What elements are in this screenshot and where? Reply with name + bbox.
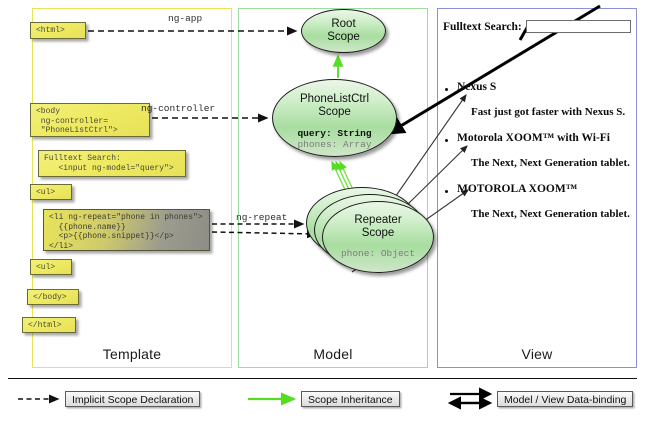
legend-label-implicit-scope-declaration: Implicit Scope Declaration	[65, 391, 200, 407]
code-box-li-ngrepeat[interactable]: <li ng-repeat="phone in phones"> {{phone…	[43, 209, 210, 251]
root-scope-title-1: Root	[302, 18, 385, 31]
label-ng-repeat: ng-repeat	[236, 212, 287, 223]
legend-arrow-double	[450, 394, 490, 403]
code-box-ul-close[interactable]: <ul>	[30, 259, 72, 275]
list-bullet-icon	[445, 88, 448, 91]
list-bullet-icon	[445, 190, 448, 193]
code-box-html-close[interactable]: </html>	[22, 317, 76, 333]
diagram-canvas: Template Model View	[0, 0, 645, 425]
panel-template-label: Template	[33, 346, 231, 362]
phonelistctrl-scope-node[interactable]: PhoneListCtrl Scope query: String phones…	[272, 79, 397, 157]
code-box-html-open[interactable]: <html>	[30, 22, 86, 39]
list-item-snippet: The Next, Next Generation tablet.	[471, 157, 630, 169]
code-box-body-close[interactable]: </body>	[27, 289, 79, 305]
repeater-scope-node[interactable]: Repeater Scope phone: Object	[322, 201, 434, 273]
list-item-name: Motorola XOOM™ with Wi-Fi	[457, 132, 610, 144]
list-item-name: MOTOROLA XOOM™	[457, 183, 577, 195]
repeater-scope-title-2: Scope	[323, 227, 433, 240]
repeater-prop-phone: phone: Object	[323, 248, 433, 259]
panel-model: Model	[238, 8, 428, 368]
panel-model-label: Model	[239, 346, 427, 362]
code-box-search-input[interactable]: Fulltext Search: <input ng-model="query"…	[38, 150, 186, 177]
root-scope-title-2: Scope	[302, 31, 385, 44]
code-box-body-open[interactable]: <body ng-controller= "PhoneListCtrl">	[30, 103, 150, 137]
phonelistctrl-prop-query: query: String	[273, 128, 396, 139]
fulltext-search-input[interactable]	[526, 20, 631, 33]
legend-label-scope-inheritance: Scope Inheritance	[301, 391, 400, 407]
label-ng-controller: ng-controller	[141, 103, 215, 114]
phonelistctrl-prop-phones: phones: Array	[273, 139, 396, 150]
legend-label-model-view-databinding: Model / View Data-binding	[497, 391, 633, 407]
list-bullet-icon	[445, 139, 448, 142]
view-content: Fulltext Search: Nexus S Fast just got f…	[443, 14, 633, 264]
phonelistctrl-scope-title-1: PhoneListCtrl	[273, 93, 396, 106]
list-item-name: Nexus S	[457, 81, 496, 93]
root-scope-node[interactable]: Root Scope	[301, 9, 386, 53]
list-item-snippet: Fast just got faster with Nexus S.	[471, 106, 625, 118]
label-ng-app: ng-app	[168, 13, 202, 24]
code-box-ul-open[interactable]: <ul>	[30, 184, 72, 200]
legend-divider	[8, 378, 637, 379]
fulltext-search-label: Fulltext Search:	[443, 21, 522, 33]
view-search-row: Fulltext Search:	[443, 20, 631, 33]
list-item-snippet: The Next, Next Generation tablet.	[471, 208, 630, 220]
panel-view-label: View	[438, 346, 636, 362]
phonelistctrl-scope-title-2: Scope	[273, 106, 396, 119]
repeater-scope-title-1: Repeater	[323, 214, 433, 227]
